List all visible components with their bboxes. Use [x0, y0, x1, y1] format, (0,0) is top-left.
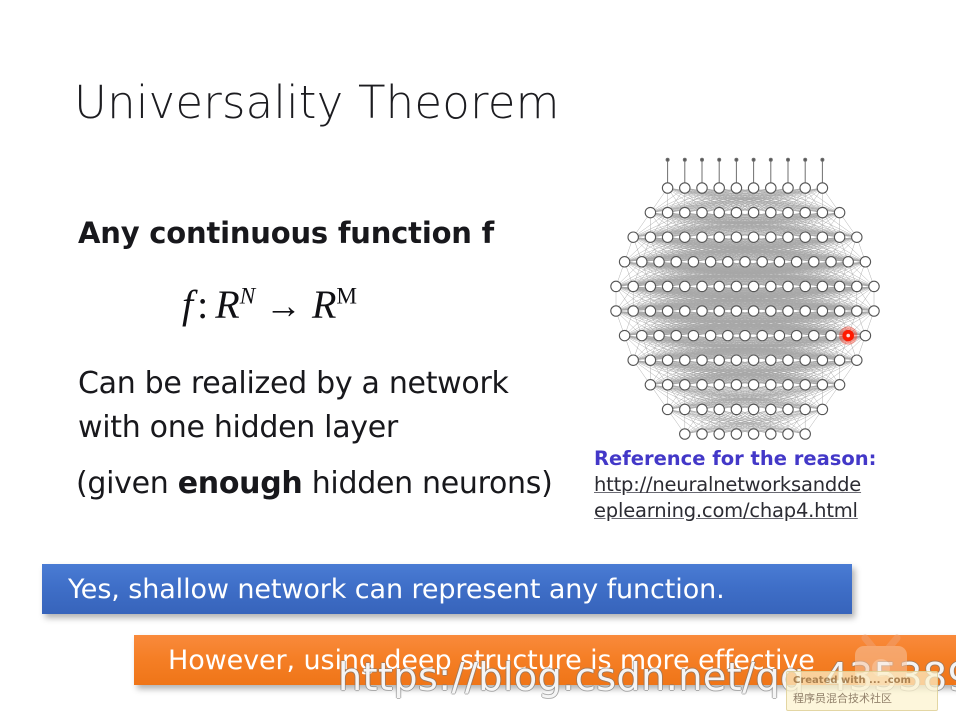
network-node [800, 355, 810, 365]
network-node [688, 257, 698, 267]
network-node [680, 429, 690, 439]
network-node [748, 183, 758, 193]
network-node [800, 207, 810, 217]
network-node [637, 330, 647, 340]
network-node [748, 306, 758, 316]
network-node [697, 429, 707, 439]
watermark-badge-line-2: 程序员混合技术社区 [793, 690, 892, 706]
network-node [645, 207, 655, 217]
network-node [852, 232, 862, 242]
network-node [697, 183, 707, 193]
network-node [843, 257, 853, 267]
network-svg [600, 152, 890, 447]
network-node [654, 257, 664, 267]
network-node [740, 330, 750, 340]
network-node [637, 257, 647, 267]
network-node [817, 232, 827, 242]
network-node [748, 380, 758, 390]
network-node [671, 330, 681, 340]
network-node [774, 257, 784, 267]
network-node [714, 380, 724, 390]
network-node [800, 306, 810, 316]
network-node [714, 306, 724, 316]
network-node [611, 281, 621, 291]
network-node [714, 281, 724, 291]
network-node [852, 355, 862, 365]
reference-url-line-1[interactable]: http://neuralnetworksandde [594, 472, 876, 498]
network-node [662, 404, 672, 414]
network-node [757, 257, 767, 267]
network-node [731, 355, 741, 365]
formula-codomain-base: R [312, 282, 336, 327]
network-node [766, 404, 776, 414]
statement-realized-by-network-line1: Can be realized by a network [78, 366, 509, 401]
banner-blue-label: Yes, shallow network can represent any f… [68, 574, 725, 605]
network-node [852, 306, 862, 316]
network-node [766, 306, 776, 316]
network-node [834, 281, 844, 291]
network-node [766, 183, 776, 193]
network-node [697, 232, 707, 242]
network-node [748, 232, 758, 242]
banner-shallow-network: Yes, shallow network can represent any f… [42, 564, 852, 614]
network-node [826, 257, 836, 267]
presentation-slide: Universality Theorem Any continuous func… [0, 0, 956, 715]
network-node [619, 330, 629, 340]
network-node [766, 232, 776, 242]
network-node [783, 355, 793, 365]
network-node [714, 183, 724, 193]
network-node [680, 232, 690, 242]
network-node [662, 183, 672, 193]
network-node [748, 207, 758, 217]
formula-colon: : [197, 282, 208, 327]
network-node [731, 281, 741, 291]
banner-deep-structure: However, using deep structure is more ef… [134, 635, 956, 685]
network-node [748, 355, 758, 365]
network-node [748, 404, 758, 414]
network-node [697, 306, 707, 316]
network-node [731, 306, 741, 316]
network-node [783, 429, 793, 439]
network-node [680, 355, 690, 365]
network-node [757, 330, 767, 340]
network-node [662, 207, 672, 217]
network-node [809, 257, 819, 267]
network-node [671, 257, 681, 267]
network-node [860, 330, 870, 340]
reference-url-line-2[interactable]: eplearning.com/chap4.html [594, 498, 876, 524]
network-node [766, 380, 776, 390]
given-emphasis: enough [178, 466, 303, 501]
formula-domain-base: R [215, 282, 239, 327]
network-node [645, 281, 655, 291]
network-node [783, 207, 793, 217]
network-node [645, 306, 655, 316]
network-node [697, 380, 707, 390]
network-node [834, 380, 844, 390]
network-node [697, 355, 707, 365]
neural-network-diagram [600, 152, 890, 447]
network-node [731, 429, 741, 439]
formula-domain-exponent: N [240, 284, 255, 310]
network-node [800, 183, 810, 193]
network-node [783, 404, 793, 414]
network-node [714, 355, 724, 365]
network-node [809, 330, 819, 340]
network-node [834, 232, 844, 242]
network-node [723, 330, 733, 340]
reference-heading: Reference for the reason: [594, 446, 876, 472]
network-node [860, 257, 870, 267]
network-node [645, 355, 655, 365]
network-node [817, 207, 827, 217]
network-node [817, 404, 827, 414]
statement-any-continuous-function: Any continuous function f [78, 216, 494, 250]
network-node [783, 380, 793, 390]
network-node [800, 281, 810, 291]
network-node [731, 183, 741, 193]
banner-orange-label: However, using deep structure is more ef… [168, 645, 815, 676]
network-input-stubs [666, 158, 824, 183]
network-node [680, 380, 690, 390]
reference-block: Reference for the reason: http://neuraln… [594, 446, 876, 524]
network-node [723, 257, 733, 267]
network-node [766, 355, 776, 365]
network-node [731, 232, 741, 242]
network-node [817, 355, 827, 365]
network-node [680, 183, 690, 193]
formula-mapping: f:RN→RM [182, 281, 357, 328]
network-node [800, 232, 810, 242]
network-node [800, 380, 810, 390]
network-node [680, 281, 690, 291]
network-node [869, 281, 879, 291]
network-node [645, 380, 655, 390]
network-node [766, 281, 776, 291]
network-node [766, 207, 776, 217]
network-node [766, 429, 776, 439]
network-node [783, 183, 793, 193]
network-node [705, 257, 715, 267]
network-node [783, 281, 793, 291]
network-node [628, 232, 638, 242]
network-node [834, 207, 844, 217]
network-node [662, 380, 672, 390]
network-node [688, 330, 698, 340]
network-node [869, 306, 879, 316]
network-node [731, 404, 741, 414]
network-node [705, 330, 715, 340]
statement-realized-by-network-line2: with one hidden layer [78, 410, 398, 445]
formula-arrow-icon: → [265, 285, 302, 326]
network-node [817, 380, 827, 390]
formula-codomain-exponent: M [336, 284, 357, 310]
network-node [834, 355, 844, 365]
network-node [800, 404, 810, 414]
network-node [800, 429, 810, 439]
network-node [680, 306, 690, 316]
network-node [662, 355, 672, 365]
network-node [714, 207, 724, 217]
network-node [628, 355, 638, 365]
network-node [783, 232, 793, 242]
network-node [791, 257, 801, 267]
network-node [817, 183, 827, 193]
network-node [852, 281, 862, 291]
network-node [645, 232, 655, 242]
network-node [817, 306, 827, 316]
formula-f: f [182, 282, 193, 327]
network-node [619, 257, 629, 267]
network-node [731, 380, 741, 390]
network-node [748, 281, 758, 291]
network-node [628, 306, 638, 316]
page-title: Universality Theorem [74, 76, 560, 129]
network-node [628, 281, 638, 291]
network-node [697, 281, 707, 291]
network-node [654, 330, 664, 340]
network-node [791, 330, 801, 340]
network-node [680, 404, 690, 414]
network-node [662, 281, 672, 291]
network-node [662, 306, 672, 316]
network-node [817, 281, 827, 291]
network-node [714, 404, 724, 414]
network-node [783, 306, 793, 316]
network-node [680, 207, 690, 217]
network-node [731, 207, 741, 217]
given-prefix: (given [76, 466, 178, 501]
network-node [714, 429, 724, 439]
network-node [697, 404, 707, 414]
network-node [748, 429, 758, 439]
network-node [611, 306, 621, 316]
network-node [714, 232, 724, 242]
network-node [834, 306, 844, 316]
network-node [662, 232, 672, 242]
network-node [697, 207, 707, 217]
network-node [740, 257, 750, 267]
network-node [774, 330, 784, 340]
given-suffix: hidden neurons) [302, 466, 552, 501]
network-node [826, 330, 836, 340]
statement-given-enough-neurons: (given enough hidden neurons) [76, 466, 553, 501]
